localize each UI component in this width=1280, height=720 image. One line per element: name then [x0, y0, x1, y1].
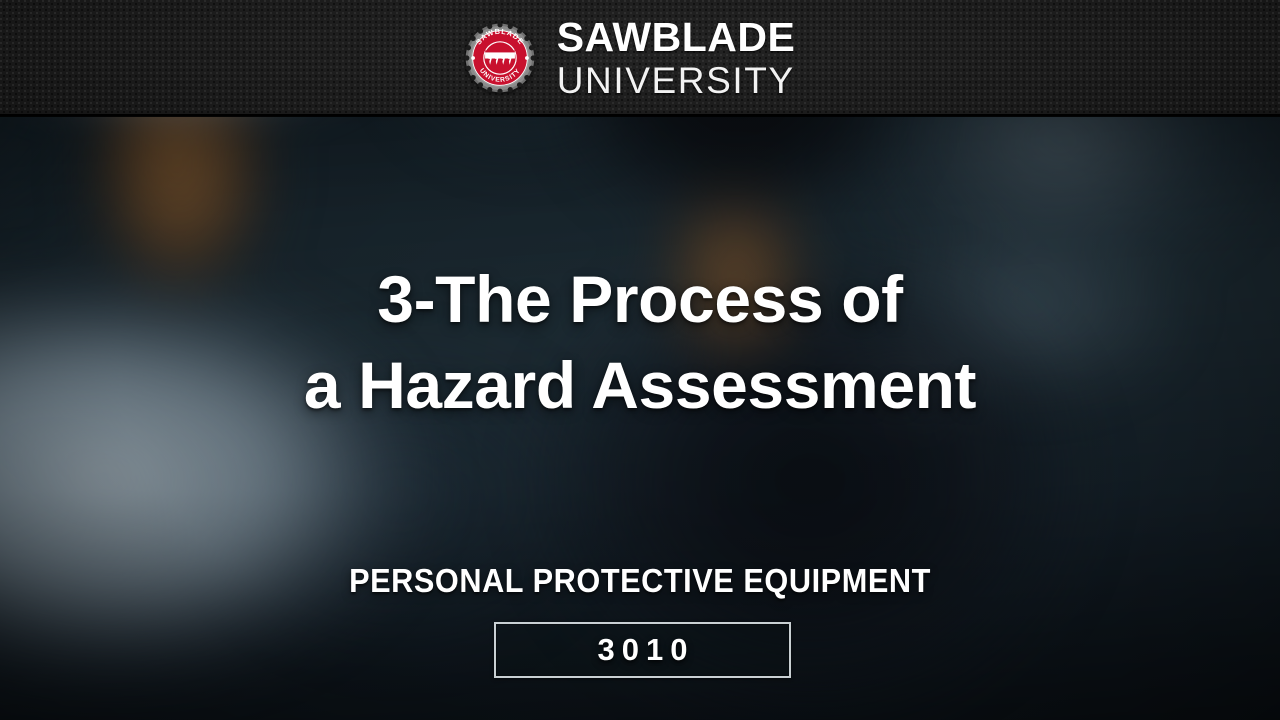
brand-wordmark: SAWBLADE UNIVERSITY — [557, 17, 796, 99]
brand-header-bar: SAWBLADE UNIVERSITY — [0, 0, 1280, 116]
brand-lockup: SAWBLADE UNIVERSITY — [461, 17, 796, 99]
course-code-value: 3010 — [591, 632, 695, 668]
brand-name-primary: SAWBLADE — [557, 17, 796, 58]
sawblade-logo-icon: SAWBLADE UNIVERSITY — [461, 19, 539, 97]
title-slide: SAWBLADE UNIVERSITY — [0, 0, 1280, 720]
slide-title: 3-The Process of a Hazard Assessment — [0, 257, 1280, 429]
brand-name-secondary: UNIVERSITY — [557, 62, 796, 99]
course-code-box: 3010 — [494, 622, 791, 678]
slide-subtitle: PERSONAL PROTECTIVE EQUIPMENT — [45, 562, 1235, 600]
slide-content: 3-The Process of a Hazard Assessment PER… — [0, 116, 1280, 720]
